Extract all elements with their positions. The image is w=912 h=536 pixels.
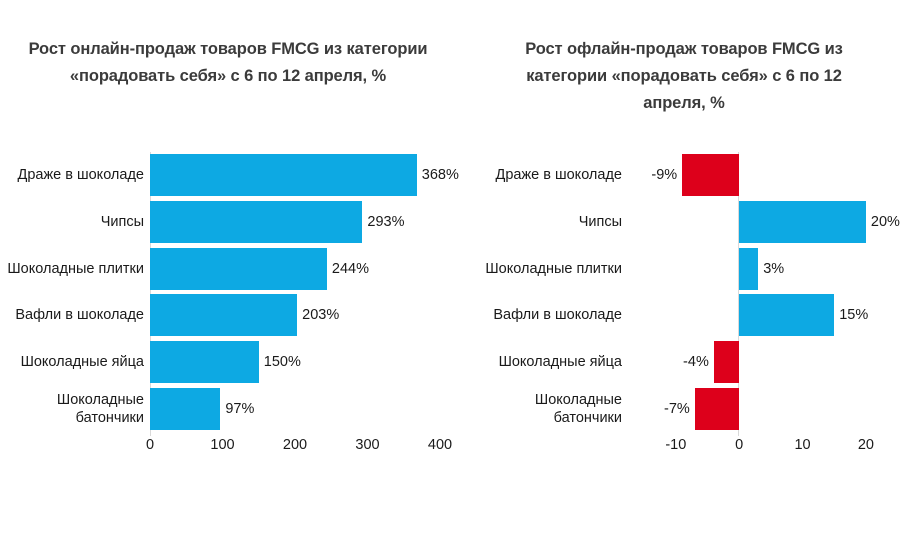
bar-value-label: 293%	[367, 214, 404, 230]
x-axis-tick-label: 10	[794, 437, 810, 453]
bar-value-label: 20%	[871, 214, 900, 230]
bar	[150, 248, 327, 290]
bar-value-label: 3%	[763, 261, 784, 277]
bar-value-label: -4%	[683, 354, 709, 370]
category-label: Шоколадные плитки	[470, 260, 622, 278]
category-label: Чипсы	[0, 213, 144, 231]
bar-row: Шоколадные батончики97%	[150, 385, 440, 432]
x-axis-tick-label: 0	[735, 437, 743, 453]
category-label: Вафли в шоколаде	[0, 306, 144, 324]
bar-row: Вафли в шоколаде15%	[653, 292, 858, 339]
bar-row: Вафли в шоколаде203%	[150, 292, 440, 339]
plot-area-online: Драже в шоколаде368%Чипсы293%Шоколадные …	[150, 152, 440, 432]
category-label: Вафли в шоколаде	[470, 306, 622, 324]
dual-bar-chart-figure: Рост онлайн-продаж товаров FMCG из катег…	[0, 0, 912, 536]
bar-value-label: -9%	[651, 167, 677, 183]
bar	[739, 201, 866, 243]
category-label: Драже в шоколаде	[0, 166, 144, 184]
category-label: Шоколадные яйца	[470, 353, 622, 371]
bar	[150, 201, 362, 243]
bar-row: Чипсы293%	[150, 199, 440, 246]
bar	[150, 154, 417, 196]
bar-value-label: 150%	[264, 354, 301, 370]
bar-value-label: 368%	[422, 167, 459, 183]
bar	[739, 294, 834, 336]
bar	[682, 154, 739, 196]
bar-value-label: 203%	[302, 307, 339, 323]
bar	[695, 388, 739, 430]
bar-row: Шоколадные яйца150%	[150, 339, 440, 386]
bar-row: Шоколадные батончики-7%	[653, 385, 858, 432]
bar-value-label: -7%	[664, 401, 690, 417]
bar	[150, 341, 259, 383]
x-axis-offline: -1001020	[0, 437, 912, 461]
chart-title-online: Рост онлайн-продаж товаров FMCG из катег…	[0, 36, 456, 90]
bar	[739, 248, 758, 290]
bar-value-label: 244%	[332, 261, 369, 277]
chart-title-offline: Рост офлайн-продаж товаров FMCG из катег…	[456, 36, 912, 117]
x-axis-tick-label: 20	[858, 437, 874, 453]
category-label: Шоколадные батончики	[470, 391, 622, 427]
bar	[714, 341, 739, 383]
category-label: Драже в шоколаде	[470, 166, 622, 184]
category-label: Шоколадные плитки	[0, 260, 144, 278]
bar-row: Чипсы20%	[653, 199, 858, 246]
bar	[150, 388, 220, 430]
bar-row: Шоколадные яйца-4%	[653, 339, 858, 386]
bar-row: Драже в шоколаде368%	[150, 152, 440, 199]
bar-row: Драже в шоколаде-9%	[653, 152, 858, 199]
x-axis-tick-label: -10	[665, 437, 686, 453]
category-label: Чипсы	[470, 213, 622, 231]
bar-row: Шоколадные плитки3%	[653, 245, 858, 292]
bar	[150, 294, 297, 336]
plot-area-offline: Драже в шоколаде-9%Чипсы20%Шоколадные пл…	[653, 152, 858, 432]
category-label: Шоколадные батончики	[0, 391, 144, 427]
bar-row: Шоколадные плитки244%	[150, 245, 440, 292]
bar-value-label: 97%	[225, 401, 254, 417]
bar-value-label: 15%	[839, 307, 868, 323]
category-label: Шоколадные яйца	[0, 353, 144, 371]
